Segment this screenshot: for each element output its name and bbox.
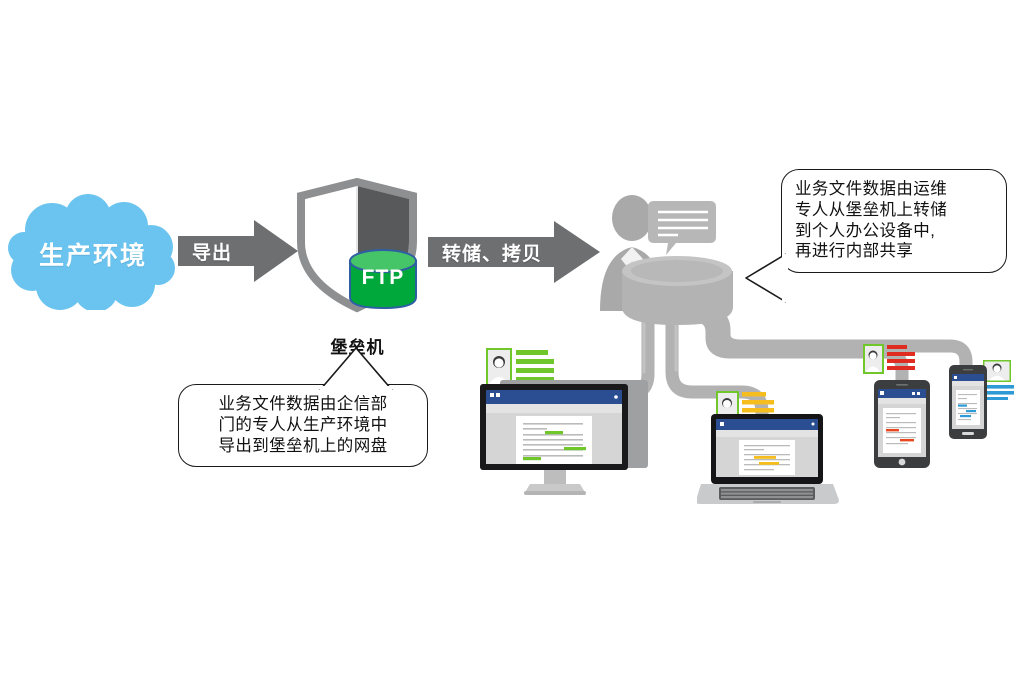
- pipe-connectors: [0, 0, 1015, 675]
- user-contact-card-icon: [863, 344, 915, 374]
- callout-bottom-left-text: 业务文件数据由企信部 门的专人从生产环境中 导出到堡垒机上的网盘: [192, 394, 414, 456]
- laptop-icon: [697, 414, 839, 506]
- cloud-icon: [8, 192, 178, 310]
- smartphone-icon: [949, 365, 987, 439]
- ftp-server-node[interactable]: [348, 248, 418, 310]
- shared-storage-hub[interactable]: [620, 255, 735, 330]
- user-contact-card-tablet: [863, 344, 915, 374]
- arrow-transfer-copy[interactable]: 转储、拷贝: [428, 219, 600, 285]
- callout-tail-top-right: [742, 252, 788, 304]
- database-cylinder-icon: [348, 248, 418, 310]
- callout-bottom-left: 业务文件数据由企信部 门的专人从生产环境中 导出到堡垒机上的网盘: [178, 384, 428, 467]
- arrow-export[interactable]: 导出: [178, 218, 298, 284]
- speech-bubble-icon: [648, 201, 716, 255]
- user-contact-card-phone: [983, 360, 1015, 400]
- tablet-icon: [874, 380, 930, 468]
- smartphone[interactable]: [949, 365, 987, 439]
- callout-top-right-text: 业务文件数据由运维 专人从堡垒机上转储 到个人办公设备中, 再进行内部共享: [795, 179, 993, 262]
- database-cylinder-icon: [620, 255, 735, 330]
- user-contact-card-icon: [983, 360, 1015, 400]
- tablet[interactable]: [874, 380, 930, 468]
- production-environment-node[interactable]: 生产环境: [8, 192, 178, 310]
- callout-top-right: 业务文件数据由运维 专人从堡垒机上转储 到个人办公设备中, 再进行内部共享: [781, 169, 1007, 273]
- desktop-monitor-icon: [478, 378, 650, 496]
- desktop-monitor[interactable]: [478, 378, 650, 496]
- callout-tail-bottom-left: [318, 344, 394, 392]
- arrow-export-label: 导出: [192, 238, 232, 265]
- diagram-canvas: 生产环境 导出 FTP 堡垒机 转储、拷贝: [0, 0, 1015, 675]
- arrow-transfer-copy-label: 转储、拷贝: [442, 239, 542, 266]
- laptop[interactable]: [697, 414, 839, 506]
